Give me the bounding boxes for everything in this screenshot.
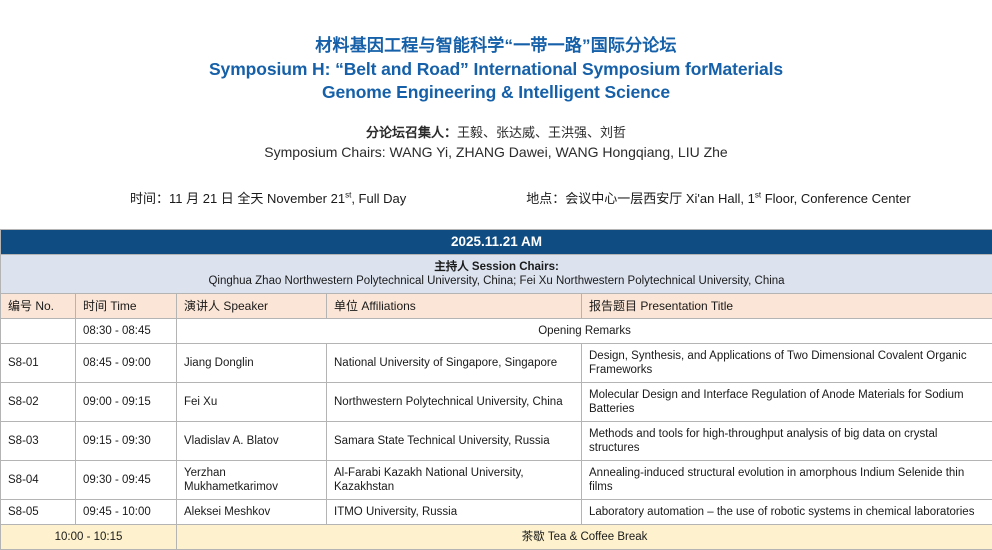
row-speaker: Vladislav A. Blatov xyxy=(177,422,327,461)
chairs-chinese: 分论坛召集人：王毅、张达威、王洪强、刘哲 xyxy=(20,123,972,142)
column-header-time: 时间 Time xyxy=(76,294,177,319)
row-no: S8-02 xyxy=(1,383,76,422)
row-presentation-title: Annealing-induced structural evolution i… xyxy=(582,461,992,500)
row-time: 09:00 - 09:15 xyxy=(76,383,177,422)
row-opening-remarks: Opening Remarks xyxy=(177,319,992,344)
title-chinese: 材料基因工程与智能科学“一带一路”国际分论坛 xyxy=(20,34,972,58)
title-english-line1: Symposium H: “Belt and Road” Internation… xyxy=(20,58,972,81)
row-no: S8-05 xyxy=(1,500,76,525)
meta-place-label: 地点：会议中心一层西安厅 Xi'an Hall, 1 xyxy=(526,191,755,206)
row-time: 08:30 - 08:45 xyxy=(76,319,177,344)
row-no: S8-04 xyxy=(1,461,76,500)
row-presentation-title: Design, Synthesis, and Applications of T… xyxy=(582,344,992,383)
row-speaker: Fei Xu xyxy=(177,383,327,422)
meta-place-tail: Floor, Conference Center xyxy=(761,191,911,206)
symposium-title-group: 材料基因工程与智能科学“一带一路”国际分论坛 Symposium H: “Bel… xyxy=(20,0,972,104)
row-no: S8-03 xyxy=(1,422,76,461)
table-row: S8-05 09:45 - 10:00 Aleksei Meshkov ITMO… xyxy=(1,500,992,525)
meta-time-label: 时间：11 月 21 日 全天 November 21 xyxy=(130,191,345,206)
row-affiliation: ITMO University, Russia xyxy=(327,500,582,525)
meta-place: 地点：会议中心一层西安厅 Xi'an Hall, 1st Floor, Conf… xyxy=(406,188,910,207)
table-row: S8-03 09:15 - 09:30 Vladislav A. Blatov … xyxy=(1,422,992,461)
column-header-speaker: 演讲人 Speaker xyxy=(177,294,327,319)
row-speaker: Yerzhan Mukhametkarimov xyxy=(177,461,327,500)
row-time: 08:45 - 09:00 xyxy=(76,344,177,383)
date-band-row: 2025.11.21 AM xyxy=(1,230,992,255)
title-english-line2: Genome Engineering & Intelligent Science xyxy=(20,81,972,104)
column-header-no: 编号 No. xyxy=(1,294,76,319)
column-header-affiliation: 单位 Affiliations xyxy=(327,294,582,319)
session-chairs-cell: 主持人 Session Chairs: Qinghua Zhao Northwe… xyxy=(1,255,992,294)
break-time: 10:00 - 10:15 xyxy=(1,525,177,550)
row-affiliation: Northwestern Polytechnical University, C… xyxy=(327,383,582,422)
row-time: 09:45 - 10:00 xyxy=(76,500,177,525)
row-affiliation: National University of Singapore, Singap… xyxy=(327,344,582,383)
break-row: 10:00 - 10:15 茶歇 Tea & Coffee Break xyxy=(1,525,992,550)
row-time: 09:15 - 09:30 xyxy=(76,422,177,461)
chairs-english: Symposium Chairs: WANG Yi, ZHANG Dawei, … xyxy=(20,142,972,162)
row-time: 09:30 - 09:45 xyxy=(76,461,177,500)
date-band-label: 2025.11.21 AM xyxy=(1,230,992,255)
row-speaker: Jiang Donglin xyxy=(177,344,327,383)
chairs-chinese-names: 王毅、张达威、王洪强、刘哲 xyxy=(457,125,626,140)
table-row: S8-01 08:45 - 09:00 Jiang Donglin Nation… xyxy=(1,344,992,383)
row-speaker: Aleksei Meshkov xyxy=(177,500,327,525)
meta-time: 时间：11 月 21 日 全天 November 21st, Full Day xyxy=(20,188,406,207)
row-presentation-title: Molecular Design and Interface Regulatio… xyxy=(582,383,992,422)
table-row: 08:30 - 08:45 Opening Remarks xyxy=(1,319,992,344)
schedule-table: 2025.11.21 AM 主持人 Session Chairs: Qinghu… xyxy=(0,229,992,550)
session-chairs-row: 主持人 Session Chairs: Qinghua Zhao Northwe… xyxy=(1,255,992,294)
row-presentation-title: Methods and tools for high-throughput an… xyxy=(582,422,992,461)
column-header-title: 报告题目 Presentation Title xyxy=(582,294,992,319)
session-meta-row: 时间：11 月 21 日 全天 November 21st, Full Day … xyxy=(20,162,972,207)
row-no xyxy=(1,319,76,344)
table-row: S8-02 09:00 - 09:15 Fei Xu Northwestern … xyxy=(1,383,992,422)
row-presentation-title: Laboratory automation – the use of robot… xyxy=(582,500,992,525)
schedule-table-wrap: 2025.11.21 AM 主持人 Session Chairs: Qinghu… xyxy=(0,207,992,550)
row-affiliation: Samara State Technical University, Russi… xyxy=(327,422,582,461)
column-header-row: 编号 No. 时间 Time 演讲人 Speaker 单位 Affiliatio… xyxy=(1,294,992,319)
row-no: S8-01 xyxy=(1,344,76,383)
row-affiliation: Al-Farabi Kazakh National University, Ka… xyxy=(327,461,582,500)
symposium-chairs-group: 分论坛召集人：王毅、张达威、王洪强、刘哲 Symposium Chairs: W… xyxy=(20,104,972,162)
page-header: 材料基因工程与智能科学“一带一路”国际分论坛 Symposium H: “Bel… xyxy=(0,0,992,207)
break-label: 茶歇 Tea & Coffee Break xyxy=(177,525,992,550)
session-chairs-label: 主持人 Session Chairs: xyxy=(8,260,985,274)
chairs-chinese-label: 分论坛召集人： xyxy=(366,125,457,140)
session-chairs-value: Qinghua Zhao Northwestern Polytechnical … xyxy=(8,274,985,288)
table-row: S8-04 09:30 - 09:45 Yerzhan Mukhametkari… xyxy=(1,461,992,500)
meta-time-tail: , Full Day xyxy=(351,191,406,206)
